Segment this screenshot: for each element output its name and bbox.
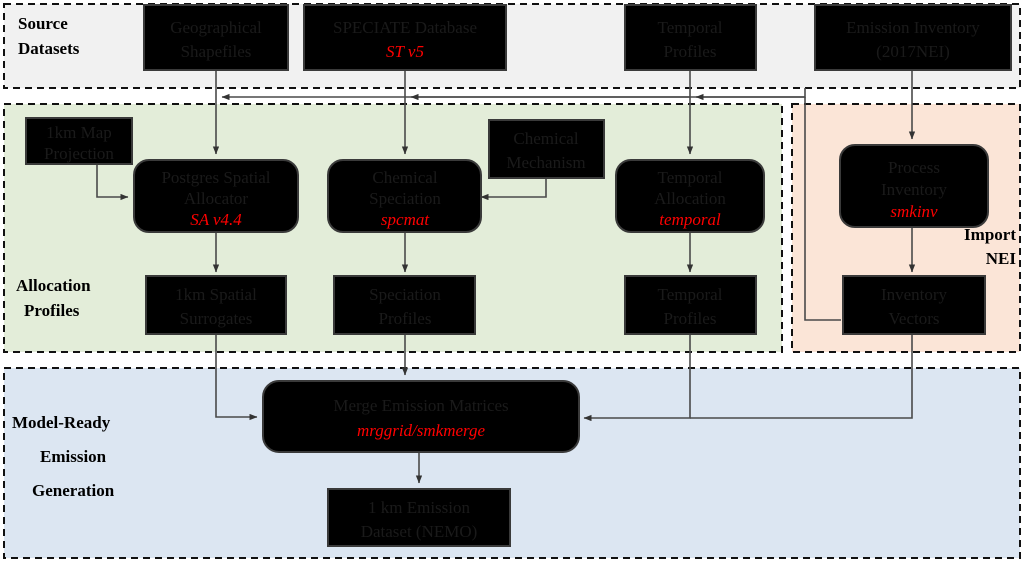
- band-label-source-line2: Datasets: [18, 39, 80, 58]
- band-label-allocation-line1: Allocation: [16, 276, 91, 295]
- node-geographical-shapefiles-line1: Geographical: [170, 18, 262, 37]
- node-1km-map-projection[interactable]: 1km Map Projection: [26, 118, 132, 164]
- node-1km-spatial-surrogates[interactable]: 1km Spatial Surrogates: [146, 276, 286, 334]
- diagram-canvas: Source Datasets Allocation Profiles Impo…: [0, 0, 1024, 562]
- node-postgres-spatial-allocator-tool: SA v4.4: [190, 210, 242, 229]
- band-label-import-line2: NEI: [986, 249, 1017, 268]
- node-postgres-spatial-allocator[interactable]: Postgres Spatial Allocator SA v4.4: [134, 160, 298, 232]
- node-temporal-allocation-line1: Temporal: [658, 168, 723, 187]
- node-speciate-database[interactable]: SPECIATE Database ST v5: [304, 5, 506, 70]
- band-label-model-line2: Emission: [40, 447, 107, 466]
- node-chemical-mechanism-line2: Mechanism: [506, 153, 585, 172]
- node-chemical-mechanism-line1: Chemical: [513, 129, 578, 148]
- node-speciation-profiles-line2: Profiles: [379, 309, 432, 328]
- node-1km-spatial-surrogates-line2: Surrogates: [180, 309, 253, 328]
- node-process-inventory[interactable]: Process Inventory smkinv: [840, 145, 988, 227]
- node-speciate-database-line1: SPECIATE Database: [333, 18, 477, 37]
- node-temporal-profiles-source-line2: Profiles: [664, 42, 717, 61]
- node-chemical-speciation[interactable]: Chemical Speciation spcmat: [328, 160, 481, 232]
- node-emission-inventory[interactable]: Emission Inventory (2017NEI): [815, 5, 1011, 70]
- node-emission-inventory-line2: (2017NEI): [876, 42, 950, 61]
- node-geographical-shapefiles-line2: Shapefiles: [181, 42, 252, 61]
- node-merge-emission-matrices[interactable]: Merge Emission Matrices mrggrid/smkmerge: [263, 381, 579, 452]
- node-inventory-vectors[interactable]: Inventory Vectors: [843, 276, 985, 334]
- node-temporal-allocation-tool: temporal: [659, 210, 721, 229]
- node-speciation-profiles-line1: Speciation: [369, 285, 441, 304]
- node-1km-map-projection-line1: 1km Map: [46, 123, 112, 142]
- node-geographical-shapefiles[interactable]: Geographical Shapefiles: [144, 5, 288, 70]
- band-label-source-line1: Source: [18, 14, 68, 33]
- node-emission-inventory-line1: Emission Inventory: [846, 18, 980, 37]
- band-label-allocation-line2: Profiles: [24, 301, 80, 320]
- node-temporal-profiles-source-line1: Temporal: [658, 18, 723, 37]
- flowchart-svg: Source Datasets Allocation Profiles Impo…: [0, 0, 1024, 562]
- node-1km-emission-dataset-line2: Dataset (NEMO): [361, 522, 478, 541]
- node-process-inventory-line2: Inventory: [881, 180, 948, 199]
- connector-inventory-feedback-left: [222, 88, 805, 97]
- node-1km-spatial-surrogates-line1: 1km Spatial: [175, 285, 257, 304]
- node-1km-emission-dataset-line1: 1 km Emission: [368, 498, 471, 517]
- node-temporal-allocation-line2: Allocation: [654, 189, 726, 208]
- node-chemical-speciation-tool: spcmat: [381, 210, 430, 229]
- node-postgres-spatial-allocator-line1: Postgres Spatial: [161, 168, 270, 187]
- node-chemical-mechanism[interactable]: Chemical Mechanism: [489, 120, 604, 178]
- node-postgres-spatial-allocator-line2: Allocator: [184, 189, 249, 208]
- band-label-model-line1: Model-Ready: [12, 413, 111, 432]
- node-speciation-profiles[interactable]: Speciation Profiles: [334, 276, 475, 334]
- node-temporal-profiles-output-line2: Profiles: [664, 309, 717, 328]
- node-process-inventory-line1: Process: [888, 158, 940, 177]
- node-1km-emission-dataset[interactable]: 1 km Emission Dataset (NEMO): [328, 489, 510, 546]
- node-temporal-profiles-source[interactable]: Temporal Profiles: [625, 5, 756, 70]
- node-chemical-speciation-line2: Speciation: [369, 189, 441, 208]
- node-temporal-profiles-output[interactable]: Temporal Profiles: [625, 276, 756, 334]
- node-temporal-profiles-output-line1: Temporal: [658, 285, 723, 304]
- node-merge-emission-matrices-line1: Merge Emission Matrices: [333, 396, 508, 415]
- node-inventory-vectors-line2: Vectors: [889, 309, 940, 328]
- band-label-model-line3: Generation: [32, 481, 115, 500]
- node-1km-map-projection-line2: Projection: [44, 144, 114, 163]
- node-process-inventory-tool: smkinv: [890, 202, 938, 221]
- node-temporal-allocation[interactable]: Temporal Allocation temporal: [616, 160, 764, 232]
- node-inventory-vectors-line1: Inventory: [881, 285, 948, 304]
- node-merge-emission-matrices-tool: mrggrid/smkmerge: [357, 421, 486, 440]
- node-speciate-database-tool: ST v5: [386, 42, 424, 61]
- node-chemical-speciation-line1: Chemical: [372, 168, 437, 187]
